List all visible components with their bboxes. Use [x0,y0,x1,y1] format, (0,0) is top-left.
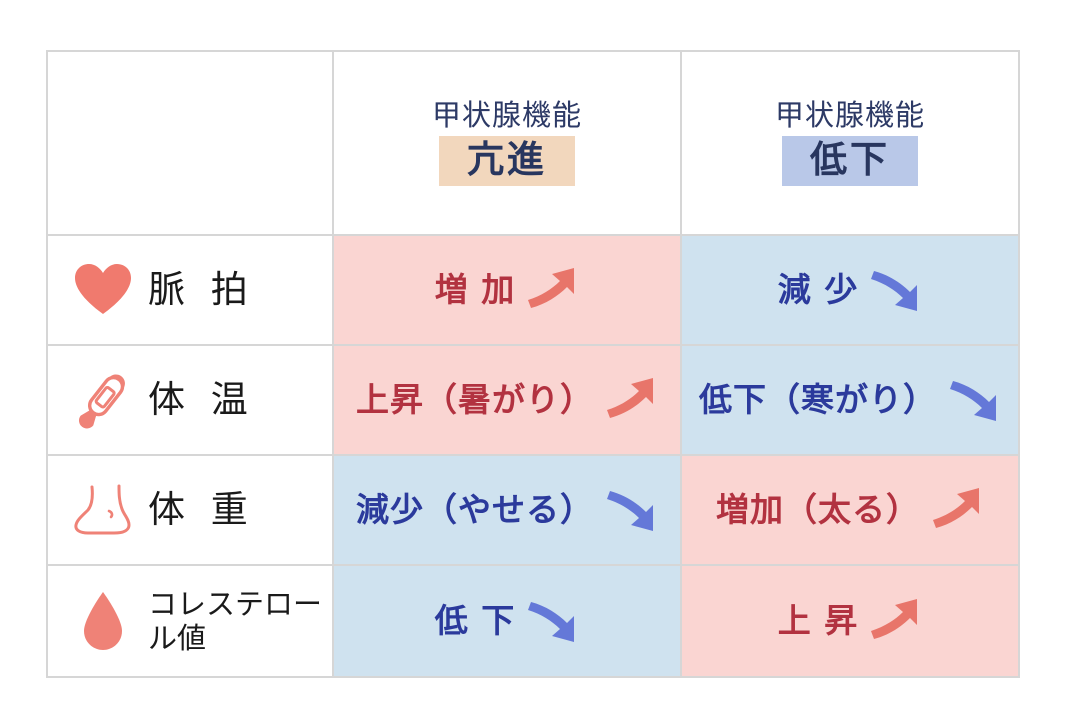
cell-inner: 低下（寒がり） [682,346,1018,454]
cell-hypo-pulse: 減 少 [681,235,1019,345]
arrow-up-icon [928,484,984,536]
row-label-inner: 体 重 [48,456,332,564]
row-label-cell-temperature: 体 温 [47,345,333,455]
cell-inner: 減 少 [682,236,1018,344]
cell-inner: 上 昇 [682,566,1018,676]
row-label-cell-cholesterol: コレステロール値 [47,565,333,677]
table-row: 体 重 減少（やせる） 増加（太る） [47,455,1019,565]
header-corner-cell [47,51,333,235]
table-row: コレステロール値 低 下 上 昇 [47,565,1019,677]
row-label-inner: コレステロール値 [48,566,332,676]
header-hyper-inner: 甲状腺機能 亢進 [334,52,680,234]
row-label-inner: 脈 拍 [48,236,332,344]
header-hyper-top-label: 甲状腺機能 [432,100,582,132]
cell-value-text: 上 昇 [778,603,859,639]
cell-value-text: 減少（やせる） [356,492,594,528]
cell-value-text: 低 下 [435,603,516,639]
arrow-up-icon [602,374,658,426]
cell-inner: 減少（やせる） [334,456,680,564]
cell-hyper-cholesterol: 低 下 [333,565,681,677]
arrow-down-icon [602,484,658,536]
thyroid-comparison-table: 甲状腺機能 亢進 甲状腺機能 低下 [46,50,1020,678]
cell-inner: 増加（太る） [682,456,1018,564]
cell-hypo-cholesterol: 上 昇 [681,565,1019,677]
cell-inner: 増 加 [334,236,680,344]
row-label-inner: 体 温 [48,346,332,454]
row-label-text: 体 温 [148,381,255,420]
header-hypo-emphasis-chip: 低下 [782,136,918,185]
arrow-down-icon [523,595,579,647]
cell-hyper-weight: 減少（やせる） [333,455,681,565]
header-cell-hypothyroid: 甲状腺機能 低下 [681,51,1019,235]
arrow-down-icon [866,264,922,316]
header-cell-hyperthyroid: 甲状腺機能 亢進 [333,51,681,235]
cell-hypo-weight: 増加（太る） [681,455,1019,565]
arrow-down-icon [945,374,1001,426]
cell-hyper-pulse: 増 加 [333,235,681,345]
row-label-text: 脈 拍 [148,271,255,310]
row-label-cell-weight: 体 重 [47,455,333,565]
table-row: 脈 拍 増 加 減 少 [47,235,1019,345]
arrow-up-icon [866,595,922,647]
row-label-text: コレステロール値 [148,587,323,655]
blood-drop-icon [72,590,134,652]
cell-value-text: 増 加 [435,272,516,308]
cell-hyper-temperature: 上昇（暑がり） [333,345,681,455]
cell-hypo-temperature: 低下（寒がり） [681,345,1019,455]
thermometer-icon [72,369,134,431]
table-row: 体 温 上昇（暑がり） 低下（寒がり） [47,345,1019,455]
arrow-up-icon [523,264,579,316]
row-label-cell-pulse: 脈 拍 [47,235,333,345]
cell-value-text: 低下（寒がり） [699,382,937,418]
heart-icon [72,259,134,321]
header-hypo-inner: 甲状腺機能 低下 [682,52,1018,234]
cell-value-text: 減 少 [778,272,859,308]
table-header-row: 甲状腺機能 亢進 甲状腺機能 低下 [47,51,1019,235]
foot-icon [72,479,134,541]
header-hyper-emphasis-chip: 亢進 [439,136,575,185]
cell-value-text: 上昇（暑がり） [356,382,594,418]
header-hypo-top-label: 甲状腺機能 [775,100,925,132]
cell-inner: 低 下 [334,566,680,676]
row-label-text: 体 重 [148,491,255,530]
page-root: 甲状腺機能 亢進 甲状腺機能 低下 [0,0,1080,720]
cell-value-text: 増加（太る） [716,492,920,528]
cell-inner: 上昇（暑がり） [334,346,680,454]
